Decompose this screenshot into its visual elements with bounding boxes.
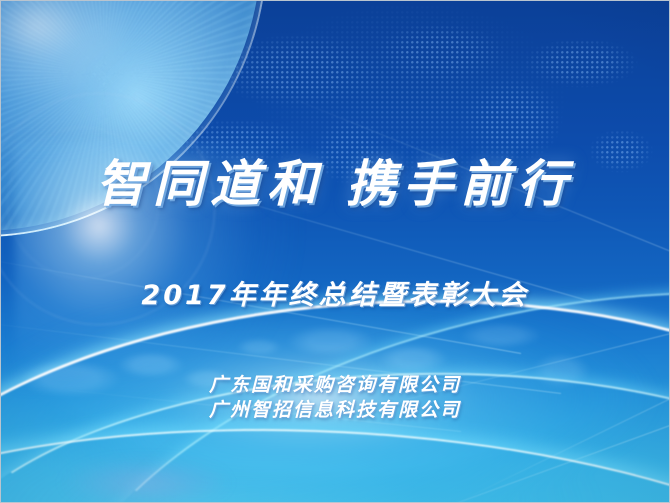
company-name-line-2: 广州智招信息科技有限公司	[1, 398, 669, 423]
slide-text-stack: 智同道和携手前行 2017年年终总结暨表彰大会 广东国和采购咨询有限公司 广州智…	[1, 1, 669, 502]
company-names-block: 广东国和采购咨询有限公司 广州智招信息科技有限公司	[1, 373, 669, 423]
presentation-cover-slide: 智同道和携手前行 2017年年终总结暨表彰大会 广东国和采购咨询有限公司 广州智…	[0, 0, 670, 503]
slide-subtitle: 2017年年终总结暨表彰大会	[1, 273, 669, 312]
slide-main-title: 智同道和携手前行	[1, 159, 669, 209]
main-title-part-left: 智同道和	[96, 154, 324, 213]
company-name-line-1: 广东国和采购咨询有限公司	[1, 373, 669, 398]
main-title-part-right: 携手前行	[346, 154, 574, 213]
